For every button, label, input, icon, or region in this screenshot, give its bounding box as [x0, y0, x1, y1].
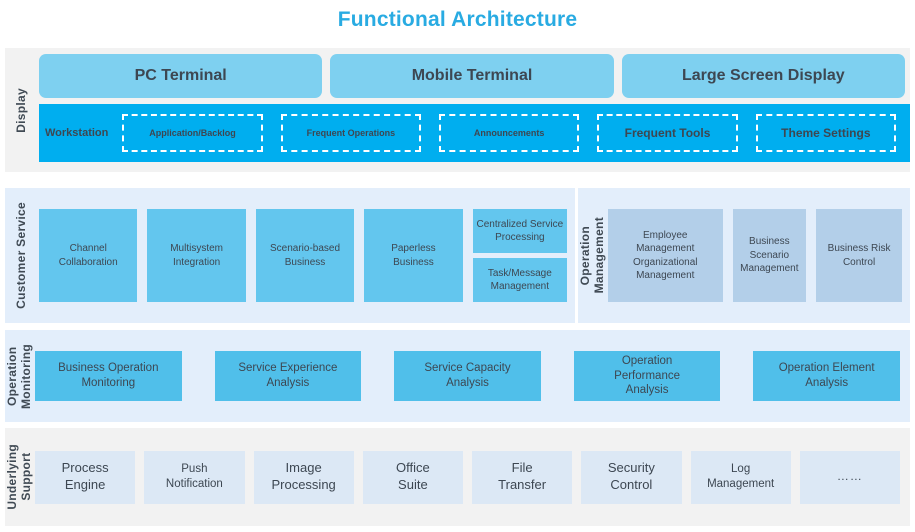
cs-box-centralized-service-processing[interactable]: Centralized ServiceProcessing: [473, 209, 567, 253]
display-band: Display PC Terminal Mobile Terminal Larg…: [5, 48, 910, 172]
operation-management-band-body: EmployeeManagementOrganizationalManageme…: [608, 188, 910, 323]
display-band-label-text: Display: [15, 88, 29, 133]
mon-box-business-operation-monitoring[interactable]: Business OperationMonitoring: [35, 351, 182, 401]
cs-box-multisystem-integration[interactable]: MultisystemIntegration: [147, 209, 245, 302]
workstation-chip-theme-settings[interactable]: Theme Settings: [756, 114, 896, 152]
mon-box-operation-performance-analysis[interactable]: OperationPerformanceAnalysis: [574, 351, 721, 401]
customer-service-band-label: Customer Service: [5, 188, 39, 323]
underlying-support-band: UnderlyingSupport ProcessEngine PushNoti…: [5, 428, 910, 526]
cs-box-paperless-business[interactable]: PaperlessBusiness: [364, 209, 462, 302]
mon-box-service-capacity-analysis[interactable]: Service CapacityAnalysis: [394, 351, 541, 401]
customer-service-band: Customer Service ChannelCollaboration Mu…: [5, 188, 575, 323]
customer-service-band-label-text: Customer Service: [15, 202, 29, 309]
us-box-log-management[interactable]: LogManagement: [691, 451, 791, 504]
page-title: Functional Architecture: [0, 8, 915, 32]
cs-box-task-message-management[interactable]: Task/MessageManagement: [473, 258, 567, 302]
om-box-employee-management[interactable]: EmployeeManagementOrganizationalManageme…: [608, 209, 723, 302]
terminal-box-mobile[interactable]: Mobile Terminal: [330, 54, 613, 98]
operation-management-band-label: OperationManagement: [578, 188, 608, 323]
om-box-business-scenario-management[interactable]: BusinessScenarioManagement: [733, 209, 807, 302]
operation-monitoring-band-body: Business OperationMonitoring Service Exp…: [35, 330, 910, 422]
us-box-security-control[interactable]: SecurityControl: [581, 451, 681, 504]
customer-service-band-body: ChannelCollaboration MultisystemIntegrat…: [39, 188, 575, 323]
workstation-title: Workstation: [45, 127, 110, 139]
underlying-support-band-label-text: UnderlyingSupport: [6, 444, 34, 510]
operation-monitoring-band: OperationMonitoring Business OperationMo…: [5, 330, 910, 422]
workstation-chip-frequent-operations[interactable]: Frequent Operations: [281, 114, 421, 152]
underlying-support-band-label: UnderlyingSupport: [5, 428, 35, 526]
us-box-image-processing[interactable]: ImageProcessing: [254, 451, 354, 504]
workstation-chip-application-backlog[interactable]: Application/Backlog: [122, 114, 262, 152]
operation-monitoring-band-label-text: OperationMonitoring: [6, 344, 34, 409]
operation-management-band: OperationManagement EmployeeManagementOr…: [578, 188, 910, 323]
us-box-more-ellipsis[interactable]: ……: [800, 451, 900, 504]
terminal-box-large-screen[interactable]: Large Screen Display: [622, 54, 905, 98]
operation-monitoring-band-label: OperationMonitoring: [5, 330, 35, 422]
operation-management-band-label-text: OperationManagement: [579, 217, 607, 293]
om-box-business-risk-control[interactable]: Business RiskControl: [816, 209, 902, 302]
mon-box-operation-element-analysis[interactable]: Operation ElementAnalysis: [753, 351, 900, 401]
cs-stack: Centralized ServiceProcessing Task/Messa…: [473, 209, 567, 302]
display-band-label: Display: [5, 48, 39, 172]
terminal-box-pc[interactable]: PC Terminal: [39, 54, 322, 98]
display-band-body: PC Terminal Mobile Terminal Large Screen…: [39, 48, 910, 172]
terminal-row: PC Terminal Mobile Terminal Large Screen…: [39, 54, 910, 98]
cs-box-scenario-based-business[interactable]: Scenario-basedBusiness: [256, 209, 354, 302]
us-box-file-transfer[interactable]: FileTransfer: [472, 451, 572, 504]
underlying-support-band-body: ProcessEngine PushNotification ImageProc…: [35, 428, 910, 526]
workstation-chip-announcements[interactable]: Announcements: [439, 114, 579, 152]
cs-box-channel-collaboration[interactable]: ChannelCollaboration: [39, 209, 137, 302]
mon-box-service-experience-analysis[interactable]: Service ExperienceAnalysis: [215, 351, 362, 401]
us-box-push-notification[interactable]: PushNotification: [144, 451, 244, 504]
workstation-row: Workstation Application/Backlog Frequent…: [39, 104, 910, 162]
us-box-process-engine[interactable]: ProcessEngine: [35, 451, 135, 504]
us-box-office-suite[interactable]: OfficeSuite: [363, 451, 463, 504]
workstation-chip-frequent-tools[interactable]: Frequent Tools: [597, 114, 737, 152]
